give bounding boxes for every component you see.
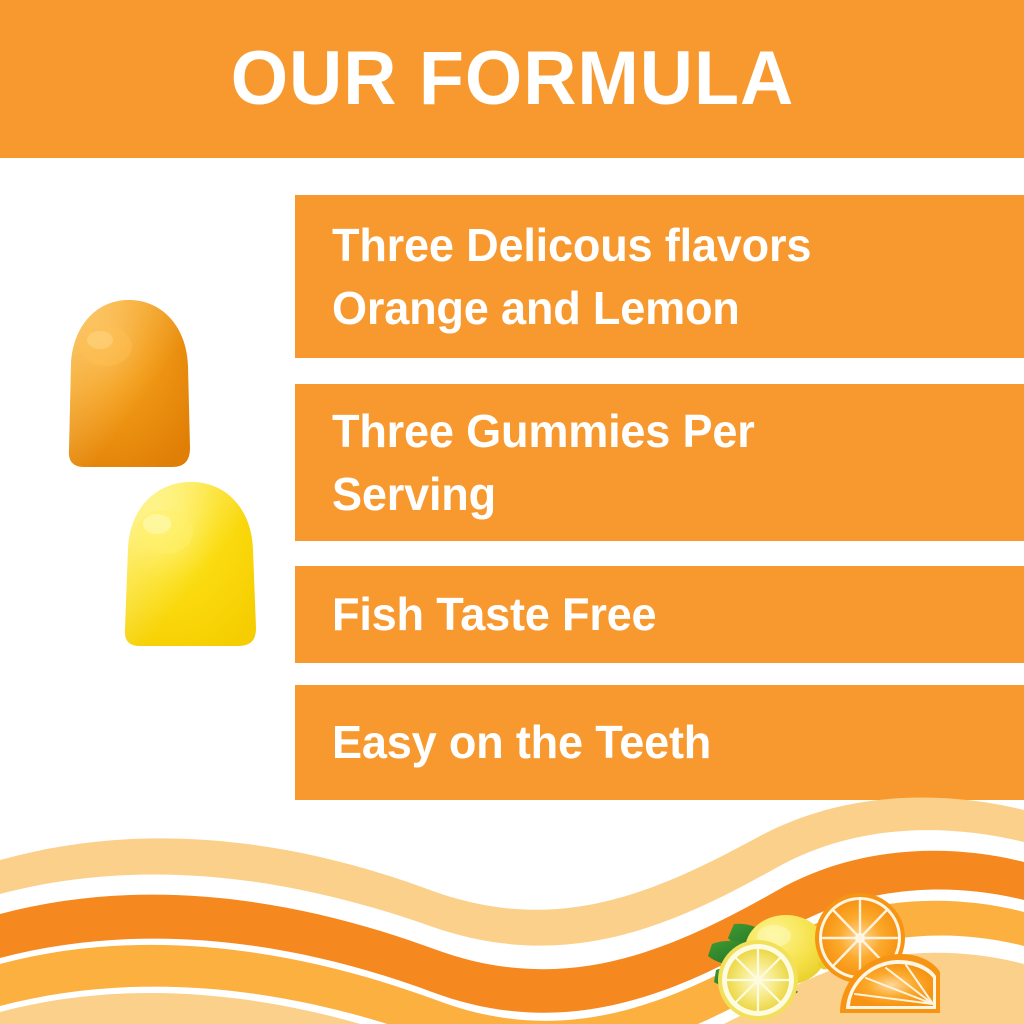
orange-gummy: [66, 298, 192, 470]
feature-bar-serving: Three Gummies Per Serving: [295, 384, 1024, 541]
feature-bar-flavors: Three Delicous flavors Orange and Lemon: [295, 195, 1024, 358]
feature-line-2: Serving: [332, 468, 496, 520]
our-formula-poster: OUR FORMULA: [0, 0, 1024, 1024]
feature-line-1: Three Gummies Per: [332, 405, 755, 457]
feature-line-1: Three Delicous flavors: [332, 219, 811, 271]
feature-text-fish-taste: Fish Taste Free: [332, 583, 656, 645]
yellow-gummy: [121, 480, 260, 648]
feature-line-2: Orange and Lemon: [332, 282, 740, 334]
feature-text-teeth: Easy on the Teeth: [332, 711, 711, 773]
feature-text-flavors: Three Delicous flavors Orange and Lemon: [332, 214, 811, 338]
lemon-half: [718, 940, 798, 1020]
feature-bar-fish-taste: Fish Taste Free: [295, 566, 1024, 663]
page-title: OUR FORMULA: [230, 41, 794, 117]
citrus-fruit-cluster: [690, 888, 940, 1024]
feature-text-serving: Three Gummies Per Serving: [332, 400, 755, 524]
feature-bar-teeth: Easy on the Teeth: [295, 685, 1024, 800]
header-band: OUR FORMULA: [0, 0, 1024, 158]
